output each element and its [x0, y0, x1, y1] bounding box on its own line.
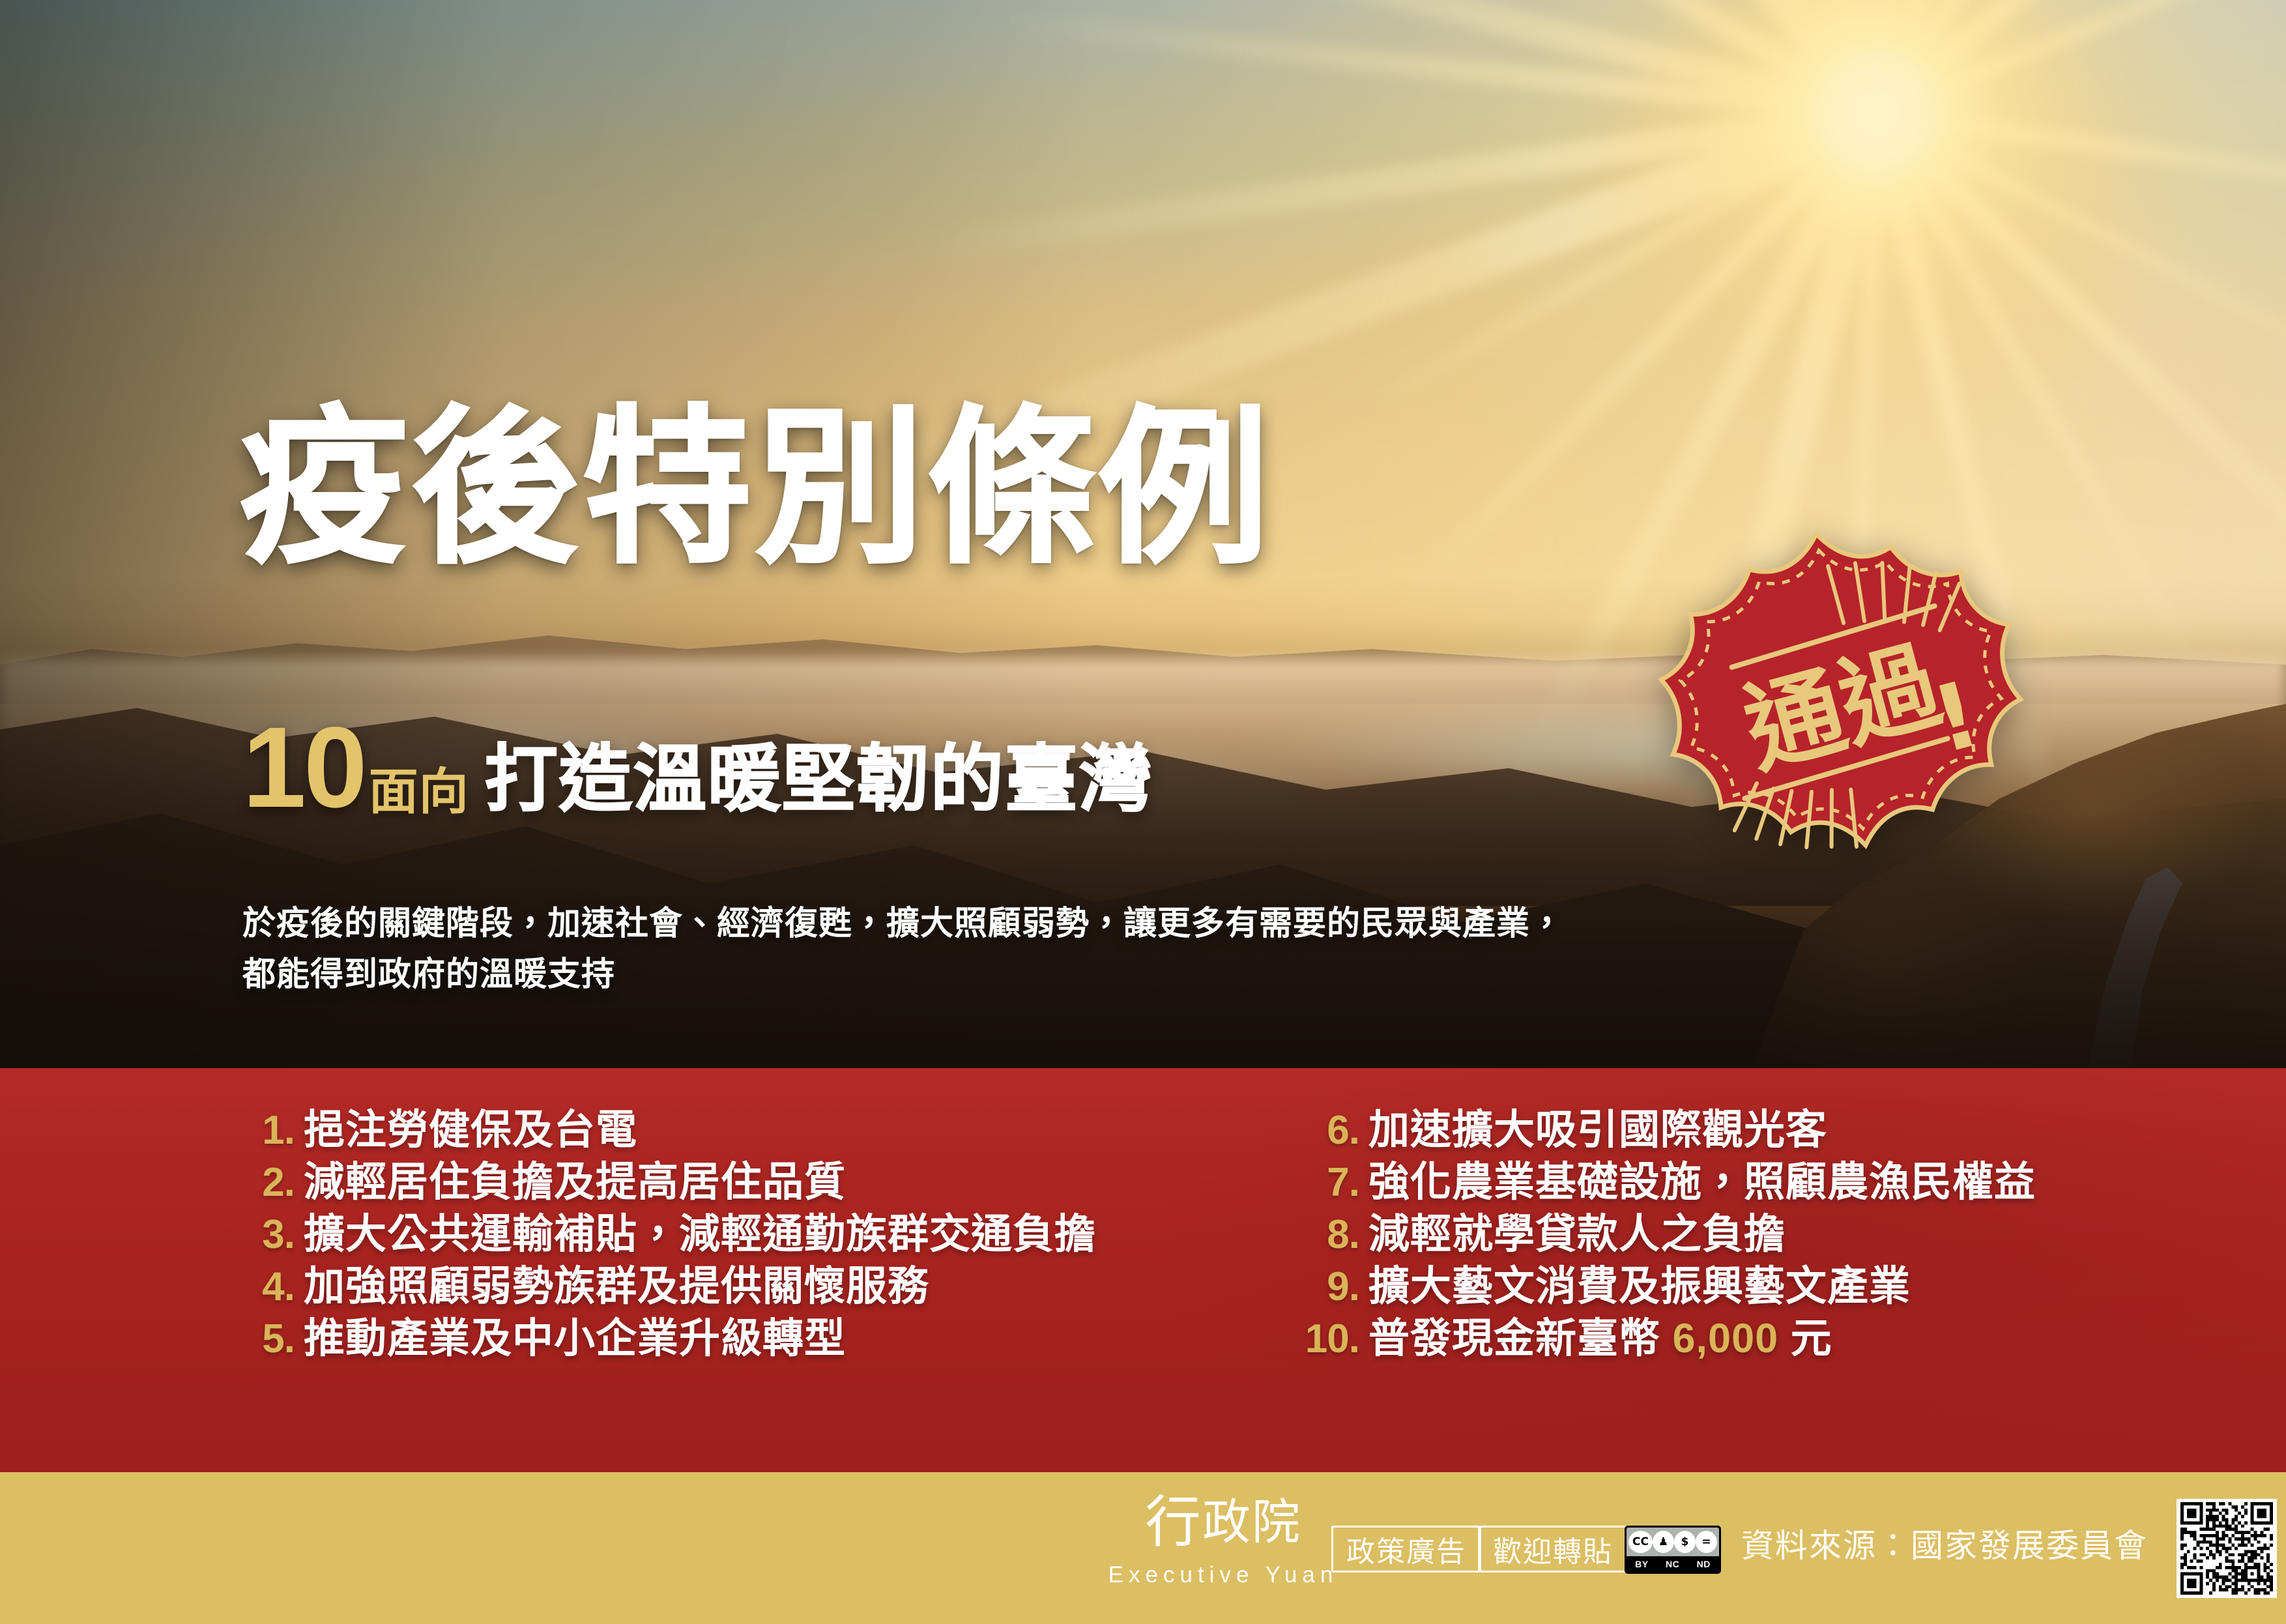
measure-text: 普發現金新臺幣 6,000 元 — [1368, 1318, 1832, 1359]
measure-number: 5. — [246, 1319, 295, 1359]
measure-item: 7.強化農業基礎設施，照顧農漁民權益 — [1292, 1162, 2286, 1214]
measure-item: 8.減輕就學貸款人之負擔 — [1292, 1214, 2286, 1266]
subtitle-row: 10 面向 打造溫暖堅韌的臺灣 — [242, 716, 1153, 821]
cc-nd-label: ND — [1697, 1559, 1711, 1569]
measure-item: 5.推動產業及中小企業升級轉型 — [246, 1318, 1277, 1370]
cc-by-icon: ♟ — [1653, 1531, 1674, 1553]
poster-footer: 行政院 Executive Yuan 政策廣告 歡迎轉貼 CC ♟ $ = BY… — [0, 1472, 2286, 1624]
measure-number: 8. — [1292, 1215, 1359, 1255]
measure-number: 9. — [1292, 1267, 1359, 1307]
cc-nc-label: NC — [1666, 1559, 1679, 1569]
creative-commons-license-icon: CC ♟ $ = BY NC ND — [1625, 1526, 1721, 1574]
measure-text: 推動產業及中小企業升級轉型 — [304, 1318, 846, 1359]
measure-text: 加強照顧弱勢族群及提供關懷服務 — [304, 1266, 929, 1307]
executive-yuan-logo-cn: 行政院 — [1145, 1494, 1301, 1550]
logo-char-xing: 行 — [1145, 1490, 1202, 1555]
subtitle-unit: 面向 — [369, 768, 469, 817]
measures-band: 1.挹注勞健保及台電2.減輕居住負擔及提高居住品質3.擴大公共運輸補貼，減輕通勤… — [0, 1068, 2286, 1472]
measure-text: 減輕就學貸款人之負擔 — [1368, 1214, 1786, 1255]
qr-code-icon[interactable] — [2177, 1499, 2277, 1598]
description-line-1: 於疫後的關鍵階段，加速社會、經濟復甦，擴大照顧弱勢，讓更多有需要的民眾與產業， — [242, 898, 1911, 949]
measure-text: 擴大公共運輸補貼，減輕通勤族群交通負擔 — [304, 1214, 1096, 1255]
data-source-text: 資料來源：國家發展委員會 — [1741, 1530, 2148, 1562]
cc-icon: CC — [1628, 1531, 1653, 1553]
measures-column-right: 6.加速擴大吸引國際觀光客7.強化農業基礎設施，照顧農漁民權益8.減輕就學貸款人… — [1277, 1068, 2286, 1472]
measure-number: 1. — [246, 1110, 295, 1151]
subtitle-number: 10 — [242, 716, 365, 821]
subtitle-main: 打造溫暖堅韌的臺灣 — [485, 743, 1153, 816]
description-line-2: 都能得到政府的溫暖支持 — [242, 949, 1911, 1000]
logo-char-zhengyuan: 政院 — [1202, 1494, 1301, 1550]
measure-text: 強化農業基礎設施，照顧農漁民權益 — [1368, 1162, 2036, 1203]
measure-text: 擴大藝文消費及振興藝文產業 — [1368, 1266, 1911, 1307]
poster-root: 疫後特別條例 — [0, 0, 2286, 1624]
welcome-repost-tag: 歡迎轉貼 — [1478, 1526, 1628, 1573]
measure-item: 9.擴大藝文消費及振興藝文產業 — [1292, 1266, 2286, 1318]
measure-text: 加速擴大吸引國際觀光客 — [1368, 1110, 1827, 1151]
approval-seal-icon: 通過 ! — [1645, 527, 2036, 892]
measure-number: 7. — [1292, 1163, 1359, 1203]
measure-number: 6. — [1292, 1110, 1359, 1151]
cc-by-label: BY — [1635, 1559, 1648, 1569]
measure-text: 減輕居住負擔及提高居住品質 — [304, 1162, 846, 1203]
cc-nc-icon: $ — [1674, 1531, 1696, 1553]
poster-description: 於疫後的關鍵階段，加速社會、經濟復甦，擴大照顧弱勢，讓更多有需要的民眾與產業， … — [242, 898, 1911, 999]
policy-ad-tag: 政策廣告 — [1331, 1526, 1481, 1573]
measure-item: 3.擴大公共運輸補貼，減輕通勤族群交通負擔 — [246, 1214, 1277, 1266]
measures-column-left: 1.挹注勞健保及台電2.減輕居住負擔及提高居住品質3.擴大公共運輸補貼，減輕通勤… — [0, 1068, 1277, 1472]
measure-number: 10. — [1292, 1319, 1359, 1359]
measure-item: 6.加速擴大吸引國際觀光客 — [1292, 1110, 2286, 1162]
measure-number: 2. — [246, 1163, 295, 1203]
cc-nd-icon: = — [1696, 1531, 1717, 1553]
poster-headline: 疫後特別條例 — [240, 404, 1272, 572]
measure-item: 4.加強照顧弱勢族群及提供關懷服務 — [246, 1266, 1277, 1318]
measure-number: 4. — [246, 1267, 295, 1307]
measure-amount: 6,000 — [1673, 1316, 1779, 1361]
executive-yuan-logo: 行政院 Executive Yuan — [1122, 1494, 1324, 1604]
measure-item: 1.挹注勞健保及台電 — [246, 1110, 1277, 1162]
measure-item: 10.普發現金新臺幣 6,000 元 — [1292, 1318, 2286, 1370]
executive-yuan-logo-en: Executive Yuan — [1108, 1563, 1338, 1586]
measure-number: 3. — [246, 1215, 295, 1255]
measure-item: 2.減輕居住負擔及提高居住品質 — [246, 1162, 1277, 1214]
measure-text: 挹注勞健保及台電 — [304, 1110, 637, 1151]
